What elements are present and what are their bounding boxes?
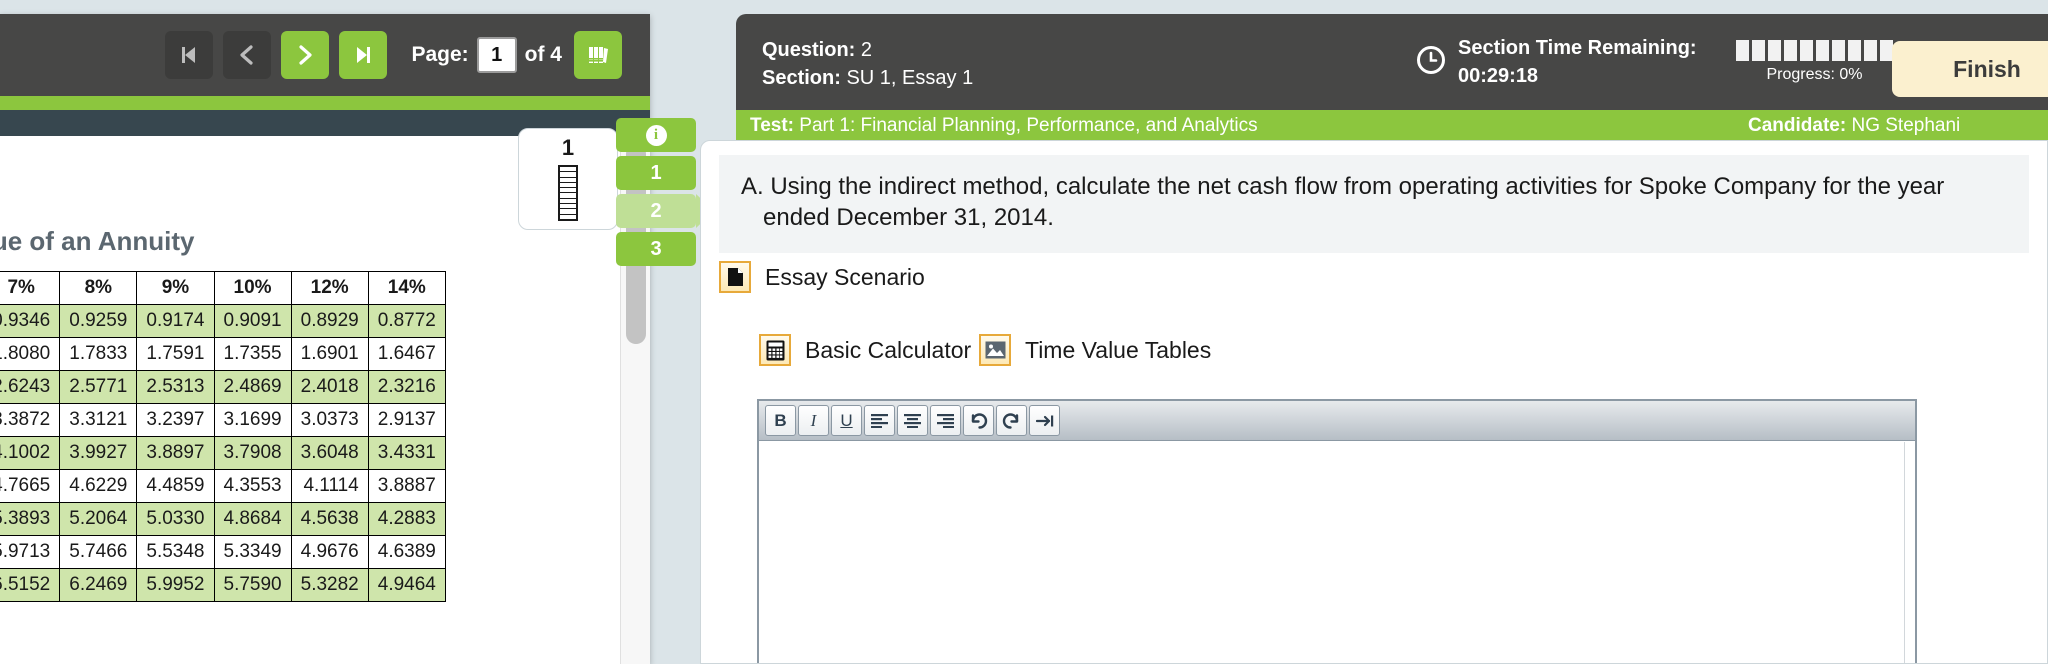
annuity-cell: 2.9137 [368,404,445,437]
annuity-cell: 2.3216 [368,371,445,404]
annuity-cell: 0.8929 [291,305,368,338]
annuity-cell: 1.8080 [0,338,60,371]
exam-info-bar: Test: Part 1: Financial Planning, Perfor… [736,110,2048,140]
annuity-cell: 3.0373 [291,404,368,437]
tvt-document-title: ent Value of an Annuity [0,226,195,257]
annuity-cell: 4.5638 [291,503,368,536]
question-text: A. Using the indirect method, calculate … [763,171,2007,233]
time-value-tables-label: Time Value Tables [1025,337,1211,364]
annuity-table: %7%8%9%10%12%14% 0.94340.93460.92590.917… [0,271,446,602]
progress-cell [1848,40,1861,61]
redo-button[interactable] [996,405,1027,436]
test-label: Test: [750,115,794,136]
progress-indicator: Progress: 0% [1736,40,1893,84]
table-row: 6.20985.97135.74665.53485.33494.96764.63… [0,536,445,569]
annuity-cell: 5.3282 [291,569,368,602]
annuity-cell: 3.7908 [214,437,291,470]
question-tab-label: 1 [650,162,661,185]
question-tab-strip: i123 [616,118,712,270]
section-label: Section: [762,67,841,89]
first-page-button[interactable] [165,31,213,79]
progress-cell [1816,40,1829,61]
last-page-button[interactable] [339,31,387,79]
annuity-cell: 1.6467 [368,338,445,371]
annuity-cell: 4.1002 [0,437,60,470]
annuity-cell: 3.3872 [0,404,60,437]
editor-toolbar: BIU [759,401,1915,441]
progress-text: Progress: 0% [1736,66,1893,84]
annuity-col-header: 8% [60,272,137,305]
annuity-cell: 1.7833 [60,338,137,371]
annuity-cell: 2.4869 [214,371,291,404]
section-timer: Section Time Remaining: 00:29:18 [1416,34,1697,90]
ruler-number: 1 [519,135,617,161]
align-center-button[interactable] [897,405,928,436]
tvt-navigation-toolbar: Page: of 4 [0,14,650,96]
annuity-cell: 1.7355 [214,338,291,371]
question-tab-label: 2 [650,200,661,223]
annuity-cell: 5.2064 [60,503,137,536]
question-value: 2 [861,39,872,61]
annuity-cell: 2.4018 [291,371,368,404]
question-tab-2[interactable]: 2 [616,194,696,228]
editor-scrollbar[interactable] [1904,442,1915,664]
question-prompt: A. Using the indirect method, calculate … [719,155,2029,253]
question-tab-label: 3 [650,238,661,261]
basic-calculator-link[interactable]: Basic Calculator [759,334,971,366]
timer-title: Section Time Remaining: [1458,34,1697,62]
annuity-col-header: 10% [214,272,291,305]
table-row: 1.83341.80801.78331.75911.73551.69011.64… [0,338,445,371]
annuity-cell: 0.9346 [0,305,60,338]
annuity-cell: 2.6243 [0,371,60,404]
annuity-cell: 3.1699 [214,404,291,437]
annuity-table-wrap: %7%8%9%10%12%14% 0.94340.93460.92590.917… [0,271,620,602]
progress-cell [1864,40,1877,61]
annuity-cell: 1.6901 [291,338,368,371]
annuity-cell: 2.5313 [137,371,214,404]
annuity-cell: 3.4331 [368,437,445,470]
indent-button[interactable] [1029,405,1060,436]
answer-textarea[interactable] [759,441,1915,664]
progress-cell [1736,40,1749,61]
progress-cell [1768,40,1781,61]
question-section-block: Question: 2 Section: SU 1, Essay 1 [762,36,973,92]
annuity-cell: 4.1114 [291,470,368,503]
question-content-panel: A. Using the indirect method, calculate … [700,140,2048,664]
bold-button[interactable]: B [765,405,796,436]
question-tab-3[interactable]: 3 [616,232,696,266]
undo-button[interactable] [963,405,994,436]
calculator-icon [759,334,791,366]
annuity-cell: 3.3121 [60,404,137,437]
annuity-cell: 3.6048 [291,437,368,470]
table-row: 3.46513.38723.31213.23973.16993.03732.91… [0,404,445,437]
progress-cell [1800,40,1813,61]
annuity-cell: 4.9464 [368,569,445,602]
essay-scenario-label: Essay Scenario [765,264,925,291]
time-value-tables-link[interactable]: Time Value Tables [979,334,1211,366]
annuity-cell: 3.8887 [368,470,445,503]
annuity-col-header: 12% [291,272,368,305]
candidate-label: Candidate: [1748,115,1846,136]
progress-cell [1752,40,1765,61]
annuity-cell: 4.3553 [214,470,291,503]
page-total-label: of 4 [525,43,562,67]
annuity-cell: 5.3349 [214,536,291,569]
table-row: 2.67302.62432.57712.53132.48692.40182.32… [0,371,445,404]
candidate-value: NG Stephani [1851,115,1960,136]
previous-page-button[interactable] [223,31,271,79]
annuity-cell: 6.5152 [0,569,60,602]
annuity-cell: 5.3893 [0,503,60,536]
annuity-cell: 4.9676 [291,536,368,569]
tvt-accent-rule [0,96,650,110]
question-line: Question: 2 [762,36,973,64]
annuity-cell: 5.9713 [0,536,60,569]
annuity-cell: 4.8684 [214,503,291,536]
annuity-cell: 0.9174 [137,305,214,338]
progress-cell [1832,40,1845,61]
annuity-cell: 4.6389 [368,536,445,569]
exam-header-bar: Question: 2 Section: SU 1, Essay 1 Secti… [736,14,2048,110]
annuity-cell: 4.2883 [368,503,445,536]
annuity-cell: 3.9927 [60,437,137,470]
info-icon: i [646,125,667,146]
clock-icon [1416,45,1446,80]
table-row: 4.21244.10023.99273.88973.79083.60483.43… [0,437,445,470]
test-info: Test: Part 1: Financial Planning, Perfor… [750,115,1258,137]
timer-value: 00:29:18 [1458,62,1697,90]
annuity-cell: 5.5348 [137,536,214,569]
annuity-cell: 0.9259 [60,305,137,338]
essay-scenario-link[interactable]: Essay Scenario [719,261,925,293]
page-ruler-card: 1 [518,128,618,230]
italic-button[interactable]: I [798,405,829,436]
annuity-col-header: 14% [368,272,445,305]
annuity-cell: 4.4859 [137,470,214,503]
annuity-col-header: 9% [137,272,214,305]
section-value: SU 1, Essay 1 [846,67,973,89]
time-value-tables-window: Page: of 4 ent Value of an Annuity % [0,14,650,664]
test-value: Part 1: Financial Planning, Performance,… [799,115,1257,136]
annuity-cell: 2.5771 [60,371,137,404]
annuity-cell: 3.2397 [137,404,214,437]
annuity-cell: 5.9952 [137,569,214,602]
annuity-cell: 0.8772 [368,305,445,338]
document-icon [719,261,751,293]
next-page-button[interactable] [281,31,329,79]
table-row: 6.80176.51526.24695.99525.75905.32824.94… [0,569,445,602]
annuity-cell: 4.6229 [60,470,137,503]
basic-calculator-label: Basic Calculator [805,337,971,364]
question-tab-1[interactable]: 1 [616,156,696,190]
progress-bar [1736,40,1893,61]
annuity-table-body: 0.94340.93460.92590.91740.90910.89290.87… [0,305,445,602]
annuity-table-header-row: %7%8%9%10%12%14% [0,272,445,305]
table-row: 5.58245.38935.20645.03304.86844.56384.28… [0,503,445,536]
finish-button[interactable]: Finish [1892,41,2048,97]
screen: Page: of 4 ent Value of an Annuity % [0,0,2048,664]
candidate-info: Candidate: NG Stephani [1748,115,1960,137]
align-right-button[interactable] [930,405,961,436]
library-button[interactable] [574,31,622,79]
annuity-cell: 4.7665 [0,470,60,503]
annuity-cell: 5.0330 [137,503,214,536]
annuity-cell: 5.7590 [214,569,291,602]
annuity-cell: 0.9091 [214,305,291,338]
ruler-icon [558,165,578,221]
align-left-button[interactable] [864,405,895,436]
annuity-col-header: 7% [0,272,60,305]
image-icon [979,334,1011,366]
progress-cell [1784,40,1797,61]
page-number-input[interactable] [477,37,517,73]
question-tab-info[interactable]: i [616,118,696,152]
table-row: 0.94340.93460.92590.91740.90910.89290.87… [0,305,445,338]
annuity-cell: 6.2469 [60,569,137,602]
table-row: 4.91734.76654.62294.48594.35534.11143.88… [0,470,445,503]
exam-application: Question: 2 Section: SU 1, Essay 1 Secti… [736,0,2048,664]
section-line: Section: SU 1, Essay 1 [762,64,973,92]
annuity-cell: 3.8897 [137,437,214,470]
question-label: Question: [762,39,855,61]
annuity-cell: 5.7466 [60,536,137,569]
answer-editor: BIU [757,399,1917,664]
underline-button[interactable]: U [831,405,862,436]
page-label: Page: [411,43,468,67]
annuity-cell: 1.7591 [137,338,214,371]
